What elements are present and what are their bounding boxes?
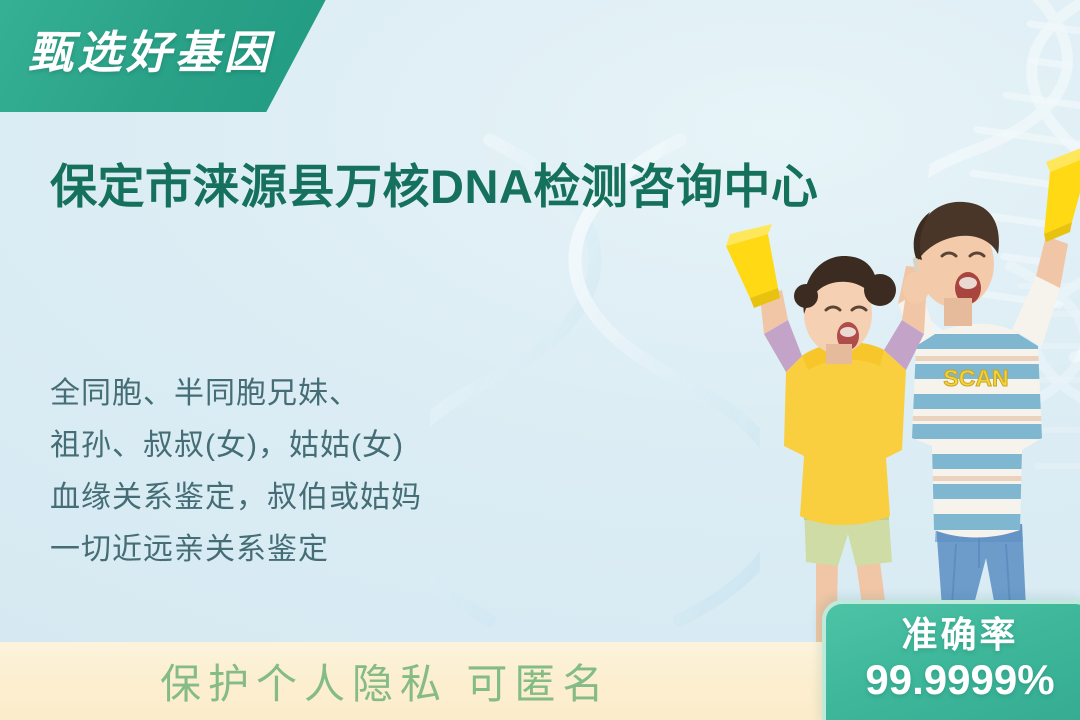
privacy-tagline: 保护个人隐私 可匿名 — [160, 650, 610, 710]
brand-logo-banner: 甄选好基因 — [0, 0, 332, 112]
poster-root: SCAN — [0, 0, 1080, 720]
description-line: 祖孙、叔叔(女)，姑姑(女) — [50, 420, 570, 472]
accuracy-badge: 准确率 99.9999% — [822, 600, 1080, 720]
description-line: 全同胞、半同胞兄妹、 — [50, 368, 570, 420]
page-title: 保定市涞源县万核DNA检测咨询中心 — [50, 158, 830, 216]
people-photo: SCAN — [720, 138, 1080, 678]
service-description: 全同胞、半同胞兄妹、 祖孙、叔叔(女)，姑姑(女) 血缘关系鉴定，叔伯或姑妈 一… — [50, 368, 570, 576]
accuracy-badge-value: 99.9999% — [826, 656, 1080, 705]
accuracy-badge-title: 准确率 — [826, 614, 1080, 656]
description-line: 血缘关系鉴定，叔伯或姑妈 — [50, 472, 570, 524]
description-line: 一切近远亲关系鉴定 — [50, 524, 570, 576]
shirt-graphic-text: SCAN — [943, 365, 1008, 391]
brand-logo-text: 甄选好基因 — [28, 16, 273, 81]
